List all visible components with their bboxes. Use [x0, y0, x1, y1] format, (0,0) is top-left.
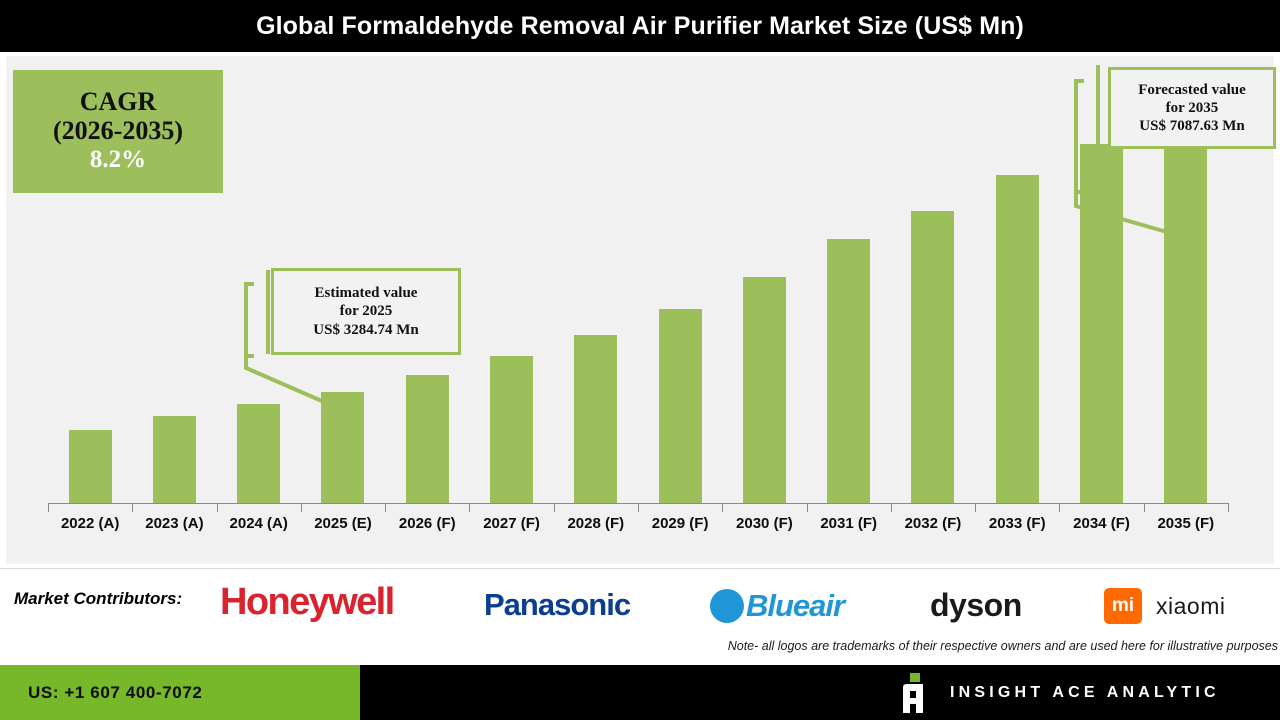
x-label-2028: 2028 (F)	[554, 515, 638, 543]
xiaomi-mi-mark-icon: mi	[1104, 588, 1142, 624]
bar-slot	[554, 66, 638, 503]
x-label-2031: 2031 (F)	[807, 515, 891, 543]
footer-brand-block: INSIGHT ACE ANALYTIC	[898, 665, 1220, 720]
x-label-2027: 2027 (F)	[469, 515, 553, 543]
callout-forecast-line2: for 2035	[1166, 99, 1219, 117]
callout-forecast-2035: Forecasted value for 2035 US$ 7087.63 Mn	[1108, 67, 1276, 149]
bar-2022[interactable]	[69, 430, 112, 503]
callout-estimated-line2: for 2025	[340, 302, 393, 320]
x-tick	[132, 503, 133, 512]
footer-brand-name: INSIGHT ACE ANALYTIC	[950, 684, 1220, 702]
bar-2032[interactable]	[911, 211, 954, 503]
x-tick	[807, 503, 808, 512]
x-axis-labels: 2022 (A)2023 (A)2024 (A)2025 (E)2026 (F)…	[48, 515, 1228, 543]
market-contributors-strip: Market Contributors: Honeywell Panasonic…	[0, 568, 1280, 668]
callout-forecast-line1: Forecasted value	[1138, 81, 1246, 99]
x-tick	[554, 503, 555, 512]
logo-panasonic-text: Panasonic	[484, 587, 630, 623]
bar-2030[interactable]	[743, 277, 786, 503]
x-label-2022: 2022 (A)	[48, 515, 132, 543]
bar-2031[interactable]	[827, 239, 870, 504]
x-tick	[722, 503, 723, 512]
page-title: Global Formaldehyde Removal Air Purifier…	[256, 12, 1024, 41]
bar-slot	[722, 66, 806, 503]
bar-2026[interactable]	[406, 375, 449, 503]
x-tick	[217, 503, 218, 512]
x-tick	[385, 503, 386, 512]
callout-estimated-line3: US$ 3284.74 Mn	[313, 321, 418, 339]
chart-panel: CAGR (2026-2035) 8.2% 2022 (A)2023 (A)20…	[6, 56, 1274, 564]
x-label-2030: 2030 (F)	[722, 515, 806, 543]
insight-ace-logo-icon	[898, 673, 932, 713]
logo-xiaomi-text: xiaomi	[1156, 593, 1225, 620]
logo-dyson-text: dyson	[930, 587, 1022, 624]
bar-slot	[132, 66, 216, 503]
bar-2028[interactable]	[574, 335, 617, 503]
footer-phone-number[interactable]: US: +1 607 400-7072	[28, 683, 202, 703]
x-label-2032: 2032 (F)	[891, 515, 975, 543]
bar-slot	[807, 66, 891, 503]
bar-2027[interactable]	[490, 356, 533, 503]
x-label-2033: 2033 (F)	[975, 515, 1059, 543]
callout-estimated-line1: Estimated value	[315, 284, 418, 302]
bar-series	[48, 66, 1228, 503]
footer-contact-block: US: +1 607 400-7072	[0, 665, 360, 720]
market-contributors-label: Market Contributors:	[14, 589, 182, 609]
bar-2023[interactable]	[153, 416, 196, 503]
bar-2033[interactable]	[996, 175, 1039, 503]
footer-bar: US: +1 607 400-7072 INSIGHT ACE ANALYTIC	[0, 665, 1280, 720]
bar-2035[interactable]	[1164, 95, 1207, 503]
x-tick	[891, 503, 892, 512]
bar-2034[interactable]	[1080, 144, 1123, 503]
bar-slot	[975, 66, 1059, 503]
logo-panasonic: Panasonic	[484, 587, 630, 623]
logo-blueair-text: Blueair	[746, 588, 844, 624]
bar-slot	[638, 66, 722, 503]
x-axis-ticks	[48, 503, 1228, 512]
x-label-2034: 2034 (F)	[1059, 515, 1143, 543]
logo-honeywell: Honeywell	[220, 581, 394, 624]
logo-xiaomi: mi xiaomi	[1104, 588, 1225, 624]
x-label-2026: 2026 (F)	[385, 515, 469, 543]
x-label-2024: 2024 (A)	[217, 515, 301, 543]
x-tick	[1228, 503, 1229, 512]
bar-2025[interactable]	[321, 392, 364, 503]
x-tick	[301, 503, 302, 512]
callout-forecast-line3: US$ 7087.63 Mn	[1139, 117, 1244, 135]
x-label-2029: 2029 (F)	[638, 515, 722, 543]
x-tick	[638, 503, 639, 512]
x-label-2023: 2023 (A)	[132, 515, 216, 543]
logo-honeywell-text: Honeywell	[220, 581, 394, 624]
x-tick	[975, 503, 976, 512]
bar-2024[interactable]	[237, 404, 280, 503]
x-label-2035: 2035 (F)	[1144, 515, 1228, 543]
callout-estimated-2025: Estimated value for 2025 US$ 3284.74 Mn	[271, 268, 461, 355]
x-label-2025: 2025 (E)	[301, 515, 385, 543]
title-bar: Global Formaldehyde Removal Air Purifier…	[0, 0, 1280, 52]
x-tick	[469, 503, 470, 512]
blueair-circle-icon	[710, 589, 744, 623]
logo-dyson: dyson	[930, 587, 1022, 624]
x-tick	[1059, 503, 1060, 512]
infographic-root: Global Formaldehyde Removal Air Purifier…	[0, 0, 1280, 720]
bar-2029[interactable]	[659, 309, 702, 503]
bar-slot	[469, 66, 553, 503]
x-tick	[48, 503, 49, 512]
x-tick	[1144, 503, 1145, 512]
bar-slot	[48, 66, 132, 503]
bar-slot	[891, 66, 975, 503]
logo-blueair: Blueair	[710, 588, 844, 624]
trademark-note: Note- all logos are trademarks of their …	[728, 639, 1278, 653]
